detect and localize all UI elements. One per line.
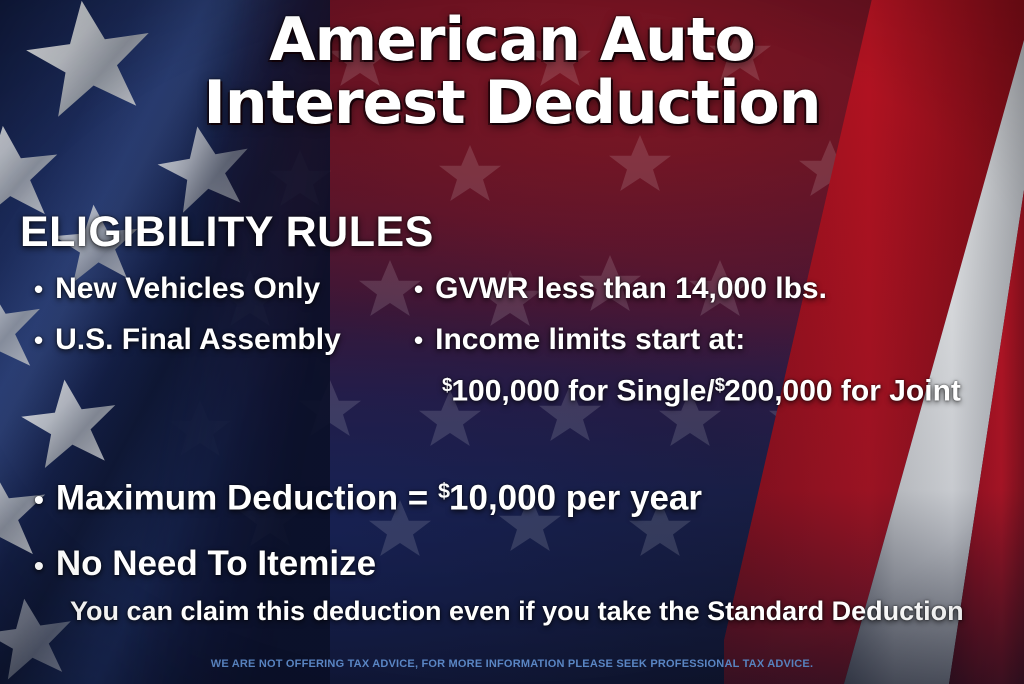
rule-item-gvwr: • GVWR less than 14,000 lbs.	[414, 272, 1006, 306]
bullet-dot-icon: •	[34, 486, 44, 514]
title-line-2: Interest Deduction	[120, 73, 904, 134]
rule-text: New Vehicles Only	[55, 272, 320, 306]
rule-text: GVWR less than 14,000 lbs.	[435, 272, 827, 306]
bullet-dot-icon: •	[34, 552, 44, 580]
key-point-text: Maximum Deduction = $10,000 per year	[56, 478, 702, 518]
standard-deduction-note: You can claim this deduction even if you…	[70, 596, 964, 627]
bullet-dot-icon: •	[34, 327, 43, 353]
poster-title: American Auto Interest Deduction	[0, 10, 1024, 134]
eligibility-rules-columns: • New Vehicles Only • U.S. Final Assembl…	[34, 272, 1006, 409]
poster-infographic: American Auto Interest Deduction ELIGIBI…	[0, 0, 1024, 684]
income-limit-amounts: $100,000 for Single/$200,000 for Joint	[442, 374, 1006, 409]
rule-text: Income limits start at:	[435, 323, 745, 357]
tax-advice-disclaimer: WE ARE NOT OFFERING TAX ADVICE, FOR MORE…	[0, 658, 1024, 670]
section-heading-eligibility: ELIGIBILITY RULES	[20, 208, 434, 257]
key-points-list: • Maximum Deduction = $10,000 per year •…	[34, 478, 1006, 610]
poster-content: American Auto Interest Deduction ELIGIBI…	[0, 0, 1024, 684]
rule-item-income-limits: • Income limits start at:	[414, 323, 1006, 357]
key-point-maximum-deduction: • Maximum Deduction = $10,000 per year	[34, 478, 1006, 518]
max-deduction-prefix: Maximum Deduction =	[56, 478, 438, 517]
income-amount-single: 100,000 for Single/	[451, 375, 714, 408]
rule-item-us-final-assembly: • U.S. Final Assembly	[34, 323, 414, 357]
rules-column-right: • GVWR less than 14,000 lbs. • Income li…	[414, 272, 1006, 409]
key-point-text: No Need To Itemize	[56, 544, 376, 584]
rule-text: U.S. Final Assembly	[55, 323, 341, 357]
key-point-no-itemize: • No Need To Itemize	[34, 544, 1006, 584]
max-deduction-amount: 10,000 per year	[449, 478, 702, 517]
rules-column-left: • New Vehicles Only • U.S. Final Assembl…	[34, 272, 414, 374]
title-line-1: American Auto	[120, 10, 904, 71]
bullet-dot-icon: •	[414, 327, 423, 353]
bullet-dot-icon: •	[414, 276, 423, 302]
bullet-dot-icon: •	[34, 276, 43, 302]
rule-item-new-vehicles: • New Vehicles Only	[34, 272, 414, 306]
income-amount-joint: 200,000 for Joint	[724, 375, 961, 408]
